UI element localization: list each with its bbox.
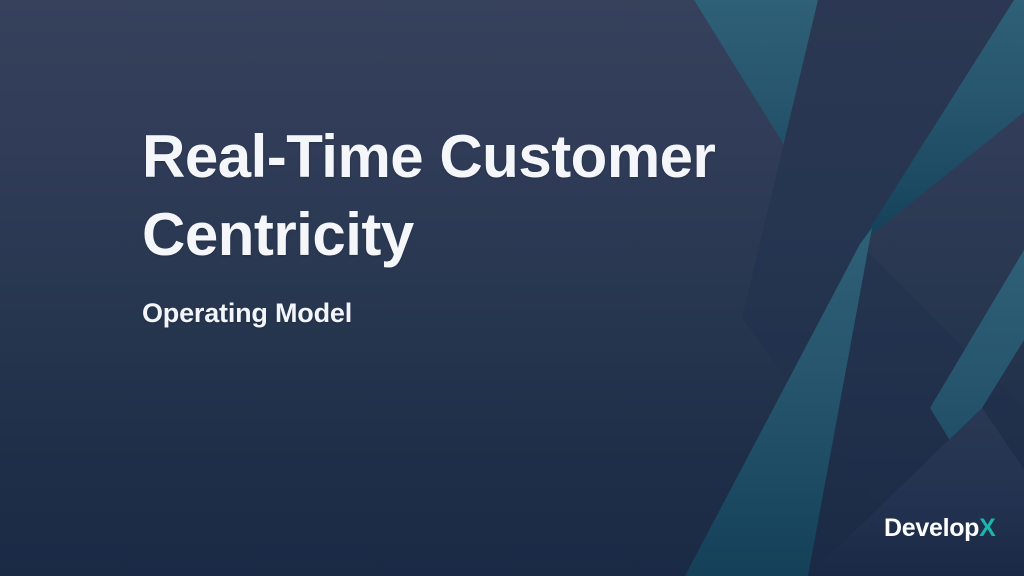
teal-chevron-right-arm — [836, 0, 1024, 244]
navy-corner-wedge — [808, 408, 1024, 576]
page-subtitle: Operating Model — [142, 296, 762, 330]
brand-logo-mark-icon: X — [979, 514, 995, 542]
navy-chevron-band — [742, 0, 1024, 576]
title-slide: Real-Time Customer Centricity Operating … — [0, 0, 1024, 576]
title-block: Real-Time Customer Centricity Operating … — [142, 118, 762, 330]
brand-logo-word: Develop — [884, 514, 979, 542]
page-title: Real-Time Customer Centricity — [142, 118, 762, 274]
brand-logo: DevelopX — [884, 514, 996, 542]
